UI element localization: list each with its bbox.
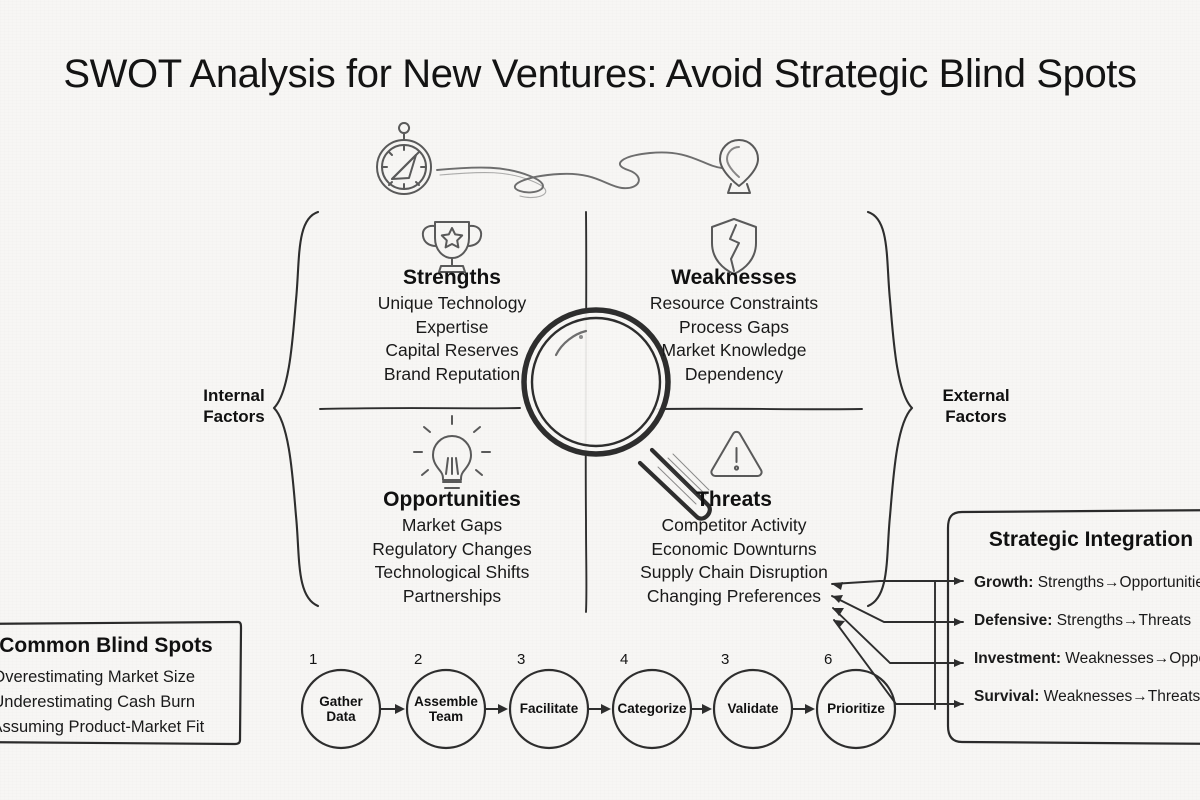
step-label-line1: Assemble	[414, 694, 478, 709]
step-number: 2	[414, 651, 422, 668]
step-label: Prioritize	[817, 670, 895, 748]
strategic-integration-list: Growth: Strengths→Opportunities Defensiv…	[946, 564, 1200, 716]
quadrant-item: Market Gaps	[302, 514, 602, 538]
process-step-3: 3 Facilitate	[510, 670, 588, 748]
external-factors-line1: External	[920, 385, 1032, 406]
quadrant-label-strengths: Strengths	[302, 266, 602, 290]
quadrant-item: Process Gaps	[584, 316, 884, 340]
process-step-6: 6 Prioritize	[817, 670, 895, 748]
list-item: Survival: Weaknesses→Threats	[974, 678, 1200, 716]
process-flow-shapes	[302, 670, 895, 748]
quadrant-item: Changing Preferences	[584, 585, 884, 609]
step-label: Gather Data	[302, 670, 380, 748]
step-number: 3	[517, 651, 525, 668]
step-label-line1: Gather	[319, 694, 363, 709]
blind-spots-list: • Overestimating Market Size • Underesti…	[0, 665, 240, 740]
quadrant-item: Regulatory Changes	[302, 538, 602, 562]
process-step-1: 1 Gather Data	[302, 670, 380, 748]
quadrant-label-threats: Threats	[584, 488, 884, 512]
internal-factors-label: Internal Factors	[178, 385, 290, 427]
blind-spots-title: Common Blind Spots	[0, 634, 240, 658]
step-label: Validate	[714, 670, 792, 748]
quadrant-items-threats: Competitor Activity Economic Downturns S…	[584, 514, 884, 608]
quadrant-item: Expertise	[302, 316, 602, 340]
list-item: • Overestimating Market Size	[0, 665, 240, 690]
list-item: • Assuming Product-Market Fit	[0, 715, 240, 740]
strategy-mapping: Strengths→Threats	[1052, 612, 1191, 629]
process-step-2: 2 Assemble Team	[407, 670, 485, 748]
step-label-line2: Team	[429, 709, 463, 724]
step-number: 4	[620, 651, 628, 668]
step-number: 3	[721, 651, 729, 668]
quadrant-item: Competitor Activity	[584, 514, 884, 538]
strategic-integration-title: Strategic Integration	[946, 528, 1200, 552]
lightbulb-icon	[414, 416, 490, 488]
quadrant-label-opportunities: Opportunities	[302, 488, 602, 512]
strategy-name: Growth:	[974, 574, 1033, 591]
quadrant-items-strengths: Unique Technology Expertise Capital Rese…	[302, 292, 602, 386]
quadrant-items-weaknesses: Resource Constraints Process Gaps Market…	[584, 292, 884, 386]
quadrant-item: Technological Shifts	[302, 561, 602, 585]
internal-factors-line1: Internal	[178, 385, 290, 406]
compass-icon	[377, 123, 431, 194]
step-number: 1	[309, 651, 317, 668]
strategy-name: Investment:	[974, 650, 1061, 667]
list-item: Investment: Weaknesses→Opportunities	[974, 640, 1200, 678]
external-factors-line2: Factors	[920, 406, 1032, 427]
quadrant-item: Partnerships	[302, 585, 602, 609]
quadrant-item: Unique Technology	[302, 292, 602, 316]
quadrant-item: Brand Reputation	[302, 363, 602, 387]
quadrant-item: Market Knowledge	[584, 339, 884, 363]
common-blind-spots-panel: Common Blind Spots • Overestimating Mark…	[0, 622, 240, 742]
step-label: Assemble Team	[407, 670, 485, 748]
step-label: Facilitate	[510, 670, 588, 748]
strategy-mapping: Weaknesses→Opportunities	[1061, 650, 1200, 667]
process-step-5: 3 Validate	[714, 670, 792, 748]
quadrant-items-opportunities: Market Gaps Regulatory Changes Technolog…	[302, 514, 602, 608]
quadrant-item: Dependency	[584, 363, 884, 387]
step-label-line2: Data	[326, 709, 355, 724]
list-item: • Underestimating Cash Burn	[0, 690, 240, 715]
strategy-name: Defensive:	[974, 612, 1052, 629]
list-item: Defensive: Strengths→Threats	[974, 602, 1200, 640]
list-item: Growth: Strengths→Opportunities	[974, 564, 1200, 602]
quadrant-item: Resource Constraints	[584, 292, 884, 316]
route-path	[437, 152, 722, 197]
quadrant-item: Capital Reserves	[302, 339, 602, 363]
strategic-integration-panel: Strategic Integration Growth: Strengths→…	[946, 508, 1200, 746]
external-factors-label: External Factors	[920, 385, 1032, 427]
warning-triangle-icon	[711, 432, 761, 476]
strategy-mapping: Weaknesses→Threats	[1039, 688, 1200, 705]
strategy-name: Survival:	[974, 688, 1039, 705]
map-pin-icon	[720, 140, 758, 193]
trophy-icon	[423, 222, 481, 272]
step-number: 6	[824, 651, 832, 668]
quadrant-item: Economic Downturns	[584, 538, 884, 562]
quadrant-label-weaknesses: Weaknesses	[584, 266, 884, 290]
internal-factors-line2: Factors	[178, 406, 290, 427]
swot-diagram-canvas: SWOT Analysis for New Ventures: Avoid St…	[0, 0, 1200, 800]
process-step-4: 4 Categorize	[613, 670, 691, 748]
quadrant-item: Supply Chain Disruption	[584, 561, 884, 585]
strategy-mapping: Strengths→Opportunities	[1033, 574, 1200, 591]
step-label: Categorize	[613, 670, 691, 748]
